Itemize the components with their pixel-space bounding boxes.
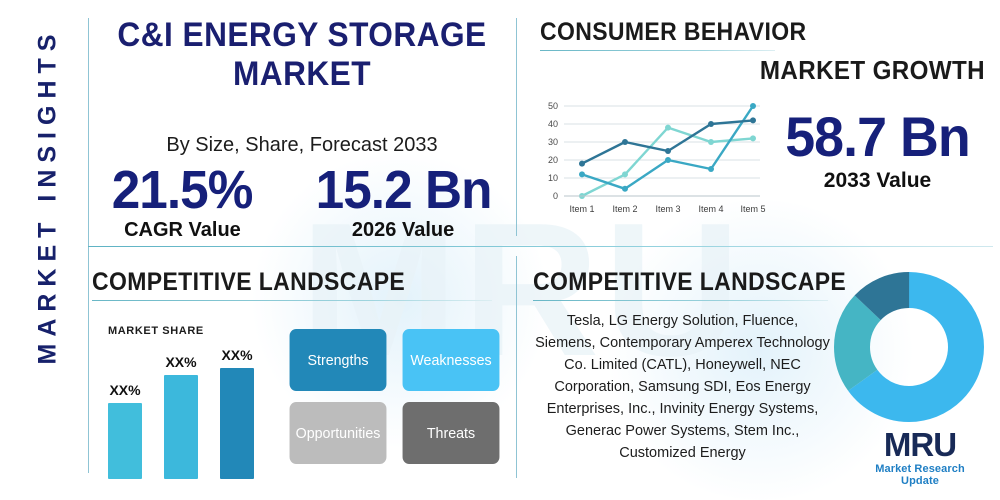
- consumer-behavior-header: CONSUMER BEHAVIOR: [540, 18, 775, 51]
- stat-2026-caption: 2026 Value: [311, 219, 496, 242]
- line-chart-svg: 50 40 30 20 10 0 Item 1 Item 2 Item 3 It…: [532, 98, 767, 220]
- svg-text:Item 4: Item 4: [698, 204, 723, 214]
- swot-label-strengths: Strengths: [307, 352, 368, 369]
- competitive-right-header: COMPETITIVE LANDSCAPE: [533, 268, 833, 301]
- market-growth-header: MARKET GROWTH: [700, 55, 985, 86]
- consumer-behavior-heading: CONSUMER BEHAVIOR: [540, 18, 756, 47]
- bar-rect: [164, 375, 198, 479]
- svg-text:Item 2: Item 2: [612, 204, 637, 214]
- side-label-market-insights: MARKET INSIGHTS: [34, 45, 63, 365]
- line-chart: 50 40 30 20 10 0 Item 1 Item 2 Item 3 It…: [532, 98, 767, 225]
- stat-2026-value: 15.2 Bn: [315, 163, 491, 218]
- stat-2033-value: 58.7 Bn: [765, 108, 991, 167]
- bar-item: XX%: [220, 347, 254, 479]
- competitive-companies-list: Tesla, LG Energy Solution, Fluence, Siem…: [535, 310, 830, 464]
- divider-horizontal: [88, 246, 993, 247]
- header-stats-row: 21.5% CAGR Value 15.2 Bn 2026 Value: [92, 163, 512, 242]
- svg-text:20: 20: [548, 155, 558, 165]
- bar-rect: [220, 368, 254, 479]
- swot-box-threats[interactable]: Threats: [403, 402, 500, 464]
- logo-tagline: Market Research Update: [855, 463, 985, 487]
- divider-vertical-center-bottom: [516, 256, 517, 478]
- line-chart-x-ticks: Item 1 Item 2 Item 3 Item 4 Item 5: [569, 204, 765, 214]
- competitive-left-header: COMPETITIVE LANDSCAPE: [92, 268, 492, 301]
- bar-rect: [108, 403, 142, 479]
- header-panel: C&I ENERGY STORAGE MARKET By Size, Share…: [92, 16, 512, 242]
- svg-text:Item 1: Item 1: [569, 204, 594, 214]
- line-chart-gridlines: [564, 106, 760, 196]
- bar-label: XX%: [165, 354, 196, 370]
- svg-text:Item 3: Item 3: [655, 204, 680, 214]
- svg-text:Item 5: Item 5: [740, 204, 765, 214]
- bar-label: XX%: [109, 382, 140, 398]
- stat-cagr-value: 21.5%: [112, 163, 253, 218]
- line-series-2: [582, 106, 753, 189]
- bar-item: XX%: [108, 347, 142, 479]
- competitive-left-heading: COMPETITIVE LANDSCAPE: [92, 268, 460, 297]
- competitive-left-rule: [92, 300, 492, 301]
- market-growth-stat: 58.7 Bn 2033 Value: [760, 108, 995, 193]
- stat-cagr: 21.5% CAGR Value: [108, 163, 256, 242]
- competitive-right-heading: COMPETITIVE LANDSCAPE: [533, 268, 809, 297]
- bar-item: XX%: [164, 347, 198, 479]
- svg-text:0: 0: [553, 191, 558, 201]
- market-share-label: MARKET SHARE: [108, 325, 254, 337]
- swot-label-opportunities: Opportunities: [296, 425, 381, 442]
- logo: MRU Market Research Update: [855, 428, 985, 487]
- logo-mark-text: MRU: [884, 426, 956, 463]
- stat-2026: 15.2 Bn 2026 Value: [311, 163, 496, 242]
- swot-box-weaknesses[interactable]: Weaknesses: [403, 329, 500, 391]
- consumer-behavior-rule: [540, 50, 775, 51]
- line-chart-y-ticks: 50 40 30 20 10 0: [548, 101, 558, 201]
- swot-label-threats: Threats: [427, 425, 475, 442]
- market-share-chart: MARKET SHARE XX% XX% XX%: [108, 325, 254, 479]
- bar-chart-bars: XX% XX% XX%: [108, 347, 254, 479]
- bar-label: XX%: [221, 347, 252, 363]
- infographic-root: MRU MARKET INSIGHTS C&I ENERGY STORAGE M…: [0, 0, 1000, 500]
- donut-chart-svg: [834, 272, 984, 422]
- swot-box-opportunities[interactable]: Opportunities: [290, 402, 387, 464]
- competitive-right-rule: [533, 300, 828, 301]
- svg-text:40: 40: [548, 119, 558, 129]
- swot-grid: Strengths Weaknesses Opportunities Threa…: [287, 329, 502, 464]
- market-growth-heading: MARKET GROWTH: [720, 55, 985, 86]
- svg-text:10: 10: [548, 173, 558, 183]
- swot-label-weaknesses: Weaknesses: [410, 352, 491, 369]
- stat-2033-caption: 2033 Value: [760, 169, 995, 193]
- donut-chart: [834, 272, 984, 427]
- svg-text:30: 30: [548, 137, 558, 147]
- logo-mark: MRU: [855, 428, 985, 461]
- swot-box-strengths[interactable]: Strengths: [290, 329, 387, 391]
- header-subtitle: By Size, Share, Forecast 2033: [92, 134, 512, 157]
- page-title: C&I ENERGY STORAGE MARKET: [107, 16, 498, 94]
- stat-cagr-caption: CAGR Value: [108, 219, 256, 242]
- divider-vertical-center-top: [516, 18, 517, 236]
- svg-text:50: 50: [548, 101, 558, 111]
